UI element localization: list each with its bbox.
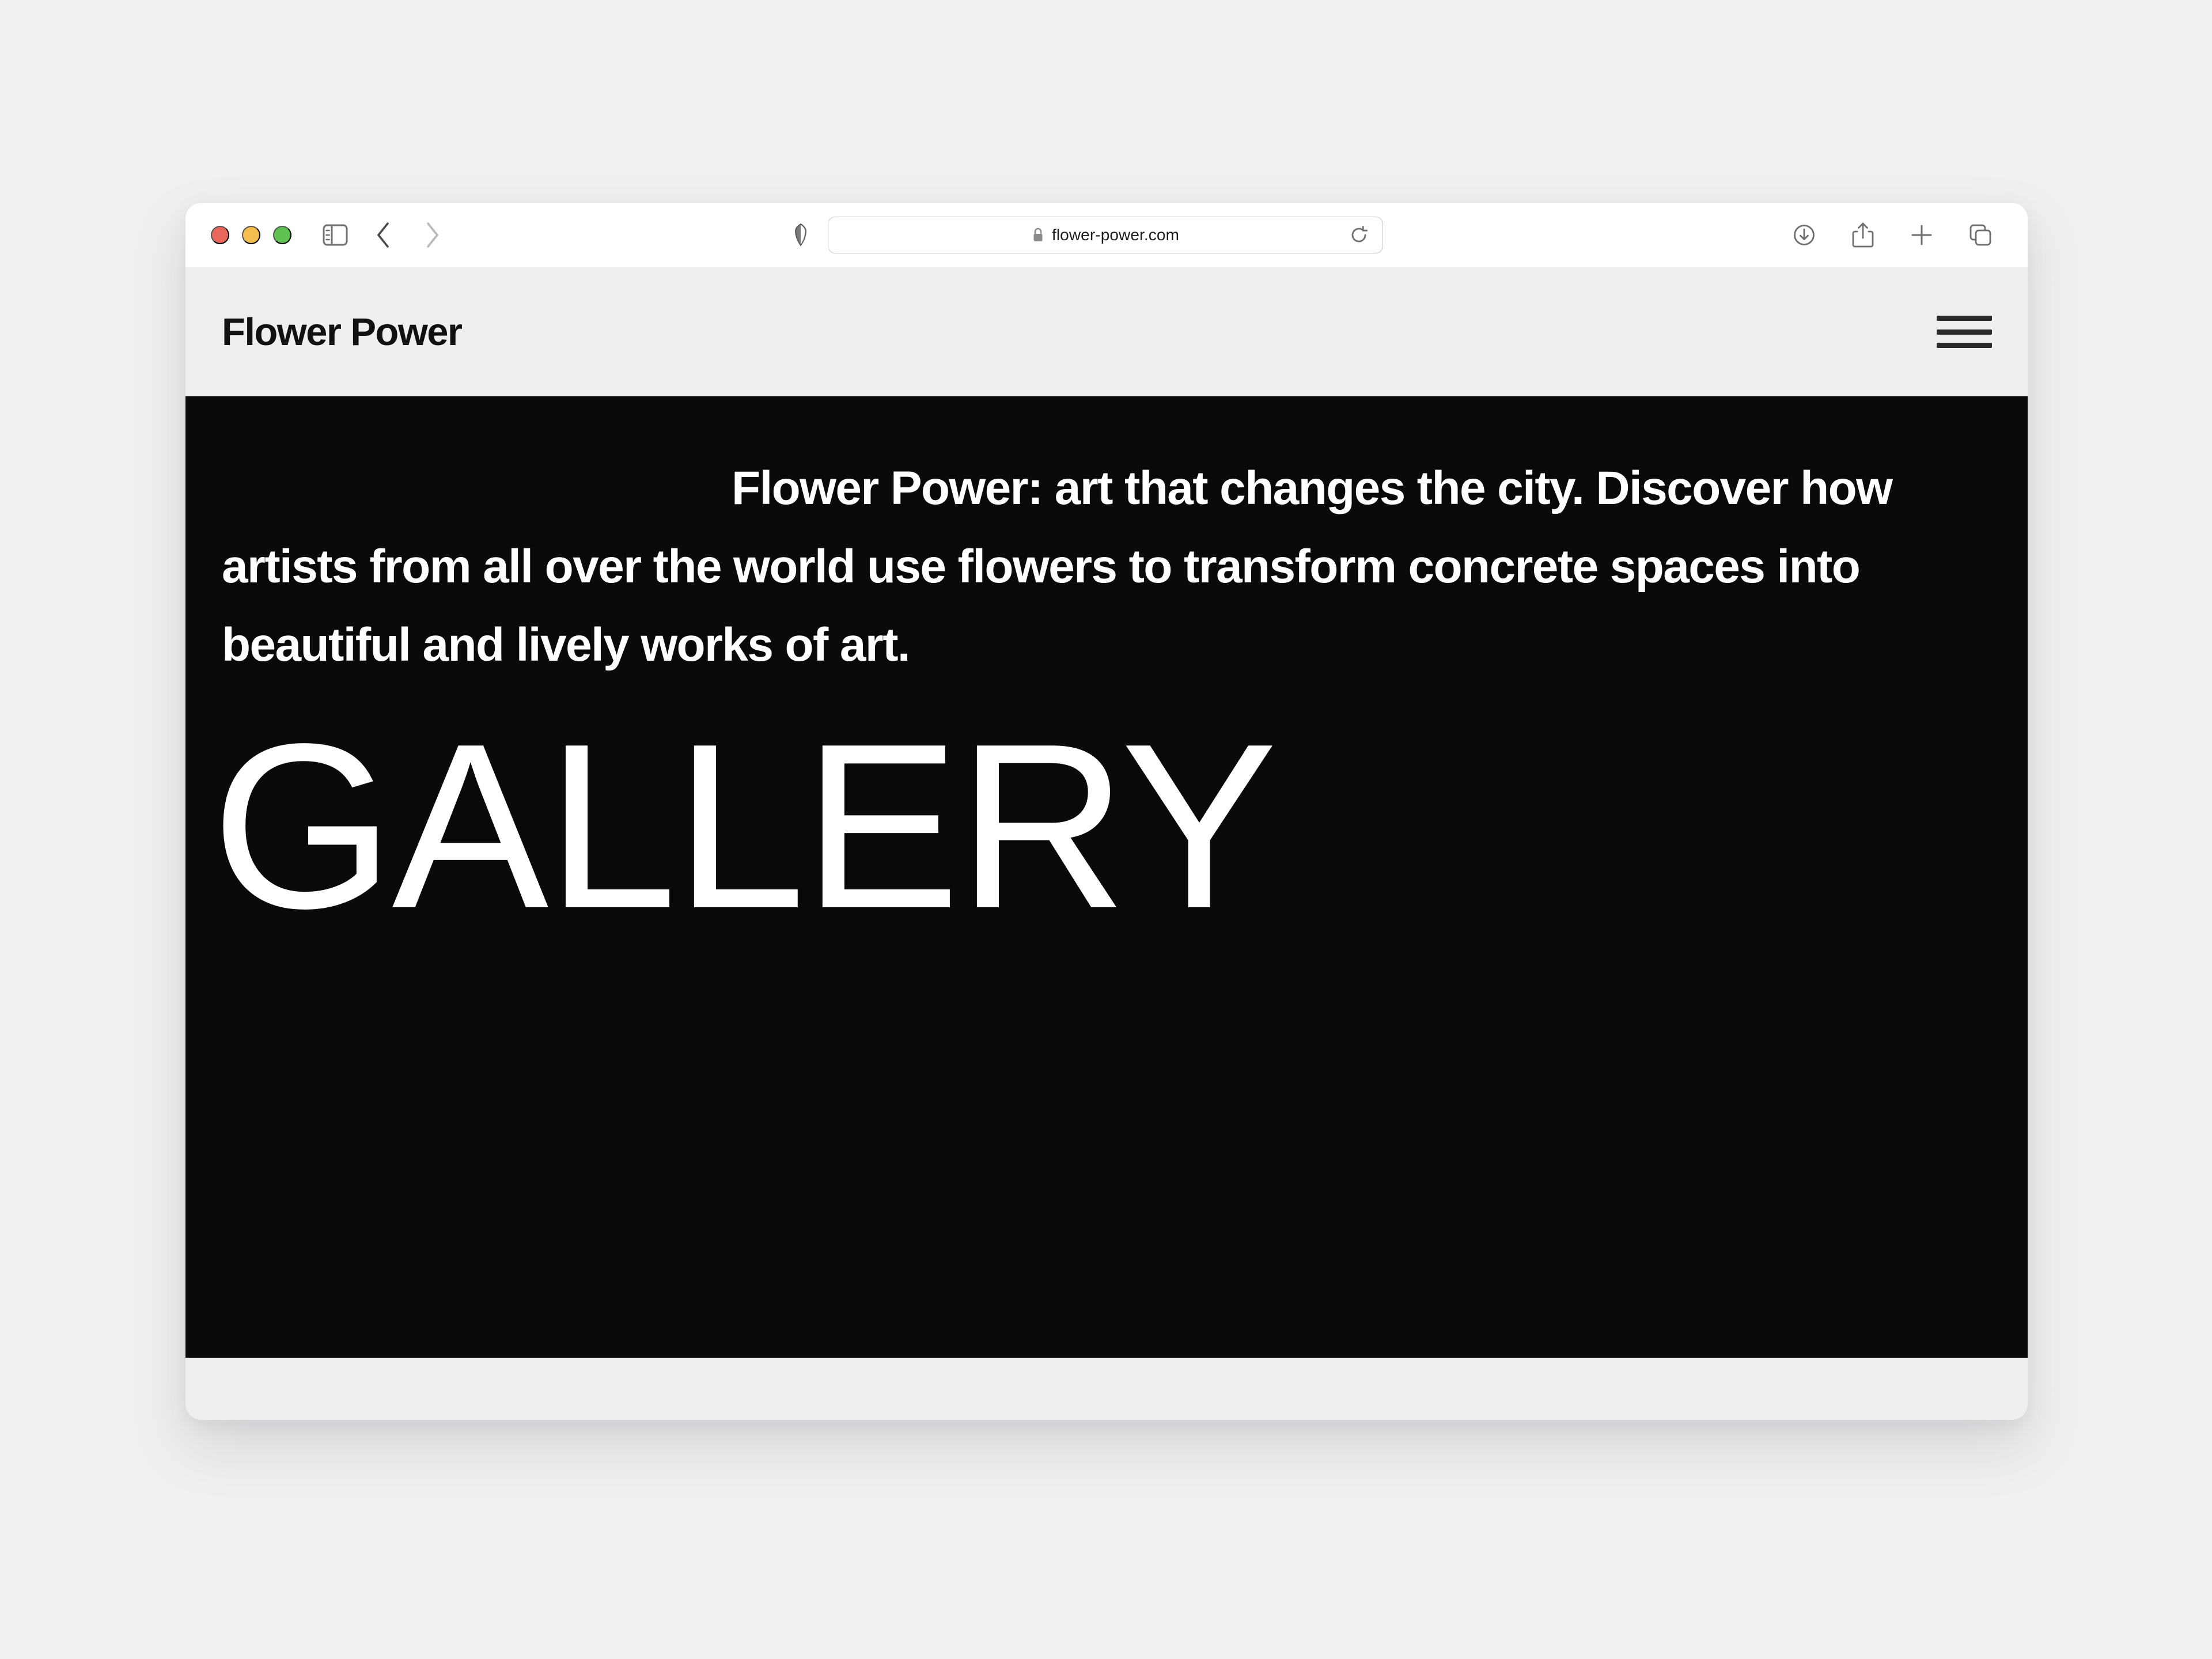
shield-icon	[793, 223, 808, 247]
hero-section: Flower Power: art that changes the city.…	[185, 396, 2028, 1358]
tab-overview-icon	[1968, 222, 1993, 248]
plus-icon	[1910, 223, 1934, 247]
sidebar-icon	[323, 224, 348, 246]
back-button[interactable]	[368, 219, 400, 251]
hamburger-line-1	[1937, 316, 1992, 321]
forward-button[interactable]	[416, 219, 448, 251]
address-bar-area: flower-power.com	[830, 217, 1383, 253]
share-icon	[1851, 221, 1874, 249]
gallery-headline-wrap: GALLERY	[185, 726, 2028, 928]
window-footer	[185, 1358, 2028, 1420]
hamburger-line-3	[1937, 343, 1992, 348]
close-window-button[interactable]	[211, 226, 229, 244]
minimize-window-button[interactable]	[242, 226, 260, 244]
chevron-right-icon	[423, 221, 441, 249]
download-icon	[1791, 222, 1817, 248]
hero-paragraph: Flower Power: art that changes the city.…	[222, 449, 1986, 684]
site-header: Flower Power	[185, 267, 2028, 396]
reload-button[interactable]	[1347, 223, 1371, 247]
browser-toolbar: flower-power.com	[185, 203, 2028, 267]
downloads-button[interactable]	[1788, 219, 1820, 251]
gallery-headline: GALLERY	[211, 726, 2028, 928]
hamburger-line-2	[1937, 329, 1992, 335]
browser-window: flower-power.com	[185, 203, 2028, 1420]
share-button[interactable]	[1847, 219, 1879, 251]
sidebar-toggle-button[interactable]	[319, 219, 351, 251]
address-bar[interactable]: flower-power.com	[828, 217, 1383, 253]
chevron-left-icon	[375, 221, 392, 249]
lock-icon	[1032, 227, 1044, 243]
reload-icon	[1349, 225, 1369, 245]
privacy-report-button[interactable]	[787, 222, 814, 248]
traffic-lights	[211, 226, 291, 244]
address-bar-content: flower-power.com	[1032, 226, 1179, 244]
tab-overview-button[interactable]	[1964, 219, 1997, 251]
site-logo[interactable]: Flower Power	[222, 313, 461, 351]
maximize-window-button[interactable]	[273, 226, 291, 244]
toolbar-actions	[1788, 219, 1997, 251]
navigation-controls	[319, 219, 448, 251]
new-tab-button[interactable]	[1906, 219, 1938, 251]
hamburger-menu-icon[interactable]	[1937, 312, 1992, 352]
url-text: flower-power.com	[1052, 226, 1179, 244]
